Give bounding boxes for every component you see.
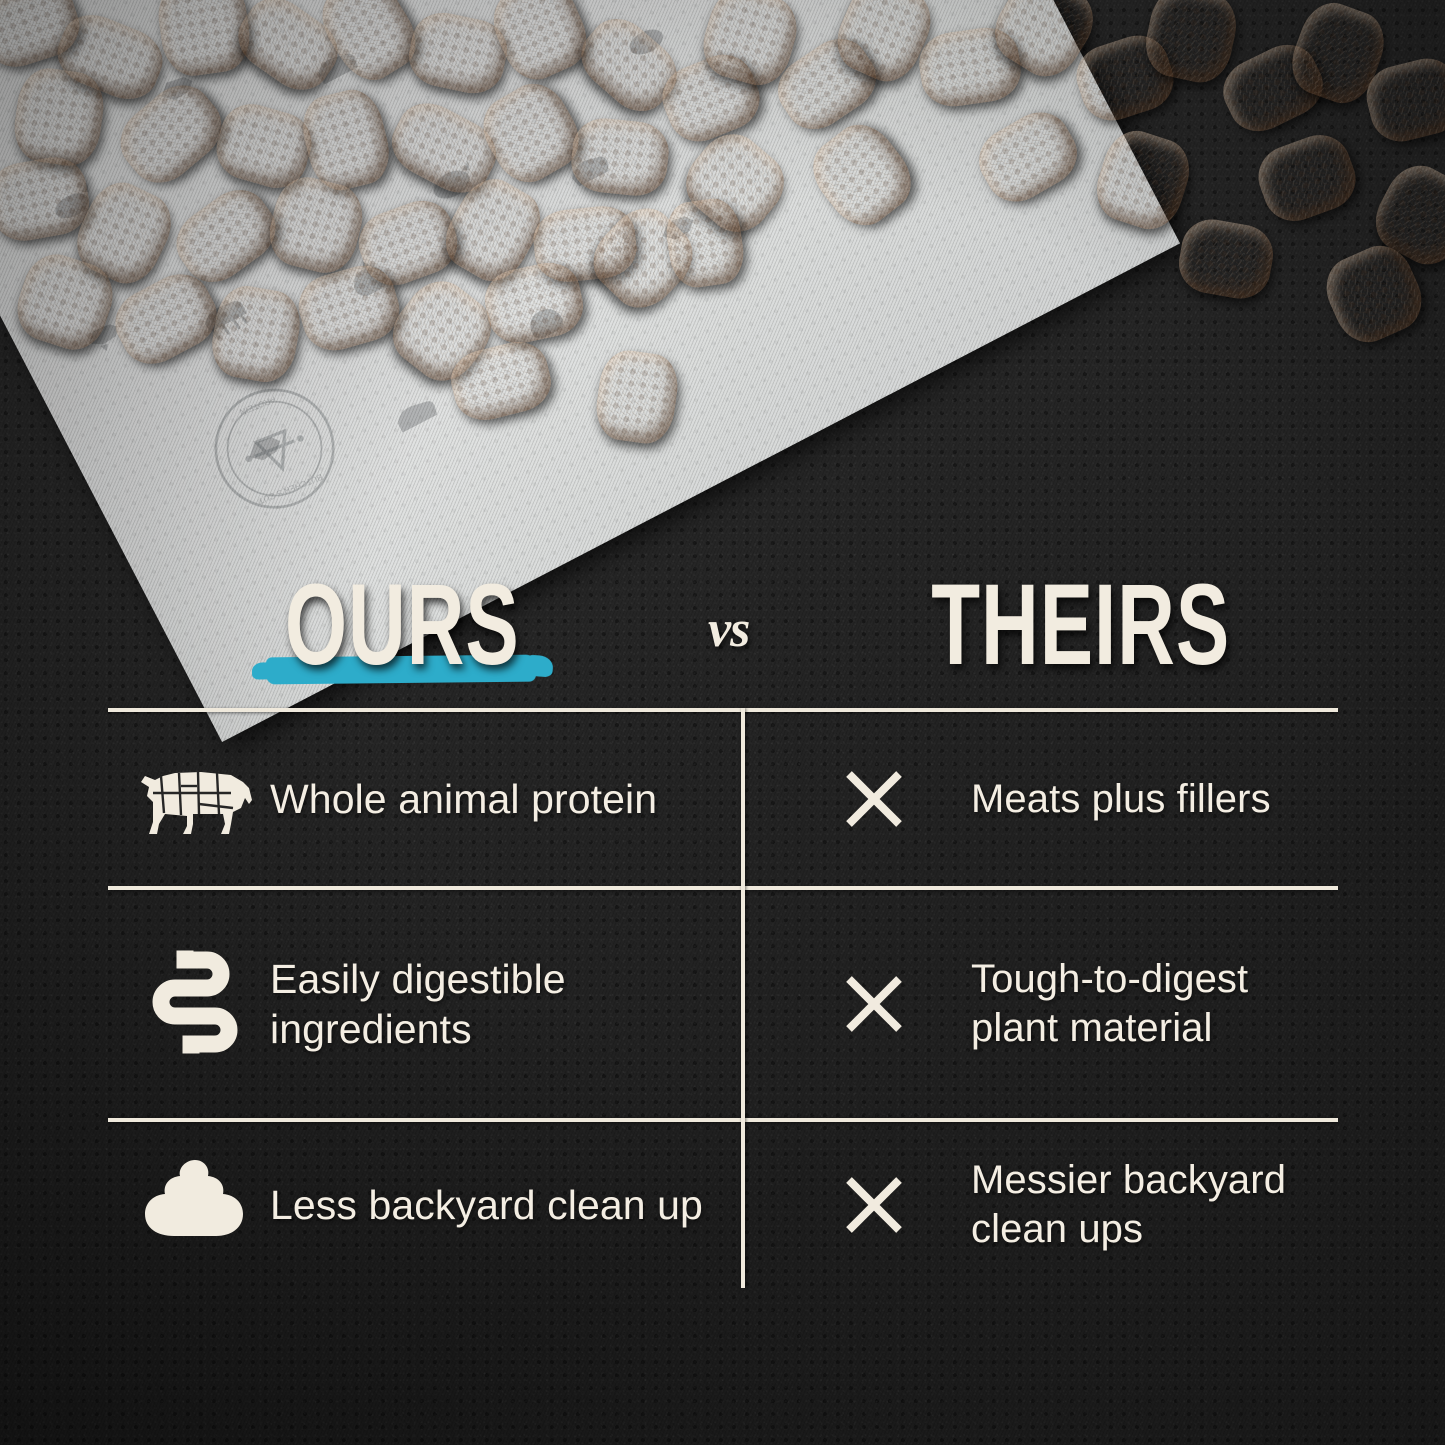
- ours-row-text: Less backyard clean up: [270, 1180, 703, 1230]
- x-mark-icon: [843, 768, 971, 830]
- poop-pile-icon: [120, 1156, 270, 1254]
- ours-row-text: Easily digestible ingredients: [270, 954, 741, 1054]
- theirs-cell: Meats plus fillers: [741, 712, 1338, 886]
- ours-cell: Less backyard clean up: [108, 1122, 741, 1288]
- heading-theirs: THEIRS: [931, 567, 1230, 682]
- digestive-intestine-icon: [120, 950, 270, 1058]
- table-row: Whole animal protein Meats plus fillers: [108, 712, 1338, 886]
- cow-butcher-cuts-icon: [120, 756, 270, 842]
- theirs-row-text: Meats plus fillers: [971, 775, 1271, 824]
- x-mark-icon: [843, 973, 971, 1035]
- theirs-cell: Messier backyard clean ups: [741, 1122, 1338, 1288]
- table-row: Easily digestible ingredients Tough-to-d…: [108, 890, 1338, 1118]
- ours-row-text: Whole animal protein: [270, 774, 657, 824]
- column-divider: [741, 708, 745, 1288]
- ours-cell: Easily digestible ingredients: [108, 890, 741, 1118]
- heading-ours: OURS: [285, 567, 520, 682]
- theirs-cell: Tough-to-digest plant material: [741, 890, 1338, 1118]
- theirs-row-text: Tough-to-digest plant material: [971, 955, 1338, 1053]
- x-mark-icon: [843, 1174, 971, 1236]
- comparison-headings: OURS vs THEIRS: [108, 560, 1338, 708]
- table-row: Less backyard clean up Messier backyard …: [108, 1122, 1338, 1288]
- svg-text:BUTCHER'S CUT: BUTCHER'S CUT: [257, 472, 324, 506]
- comparison-table: Whole animal protein Meats plus fillers: [108, 708, 1338, 1288]
- comparison-infographic: BUTCHER'S CUT PROTEIN: [0, 0, 1445, 1445]
- comparison-section: OURS vs THEIRS: [108, 560, 1338, 1288]
- theirs-row-text: Messier backyard clean ups: [971, 1156, 1338, 1254]
- versus-label: vs: [708, 600, 749, 659]
- ours-cell: Whole animal protein: [108, 712, 741, 886]
